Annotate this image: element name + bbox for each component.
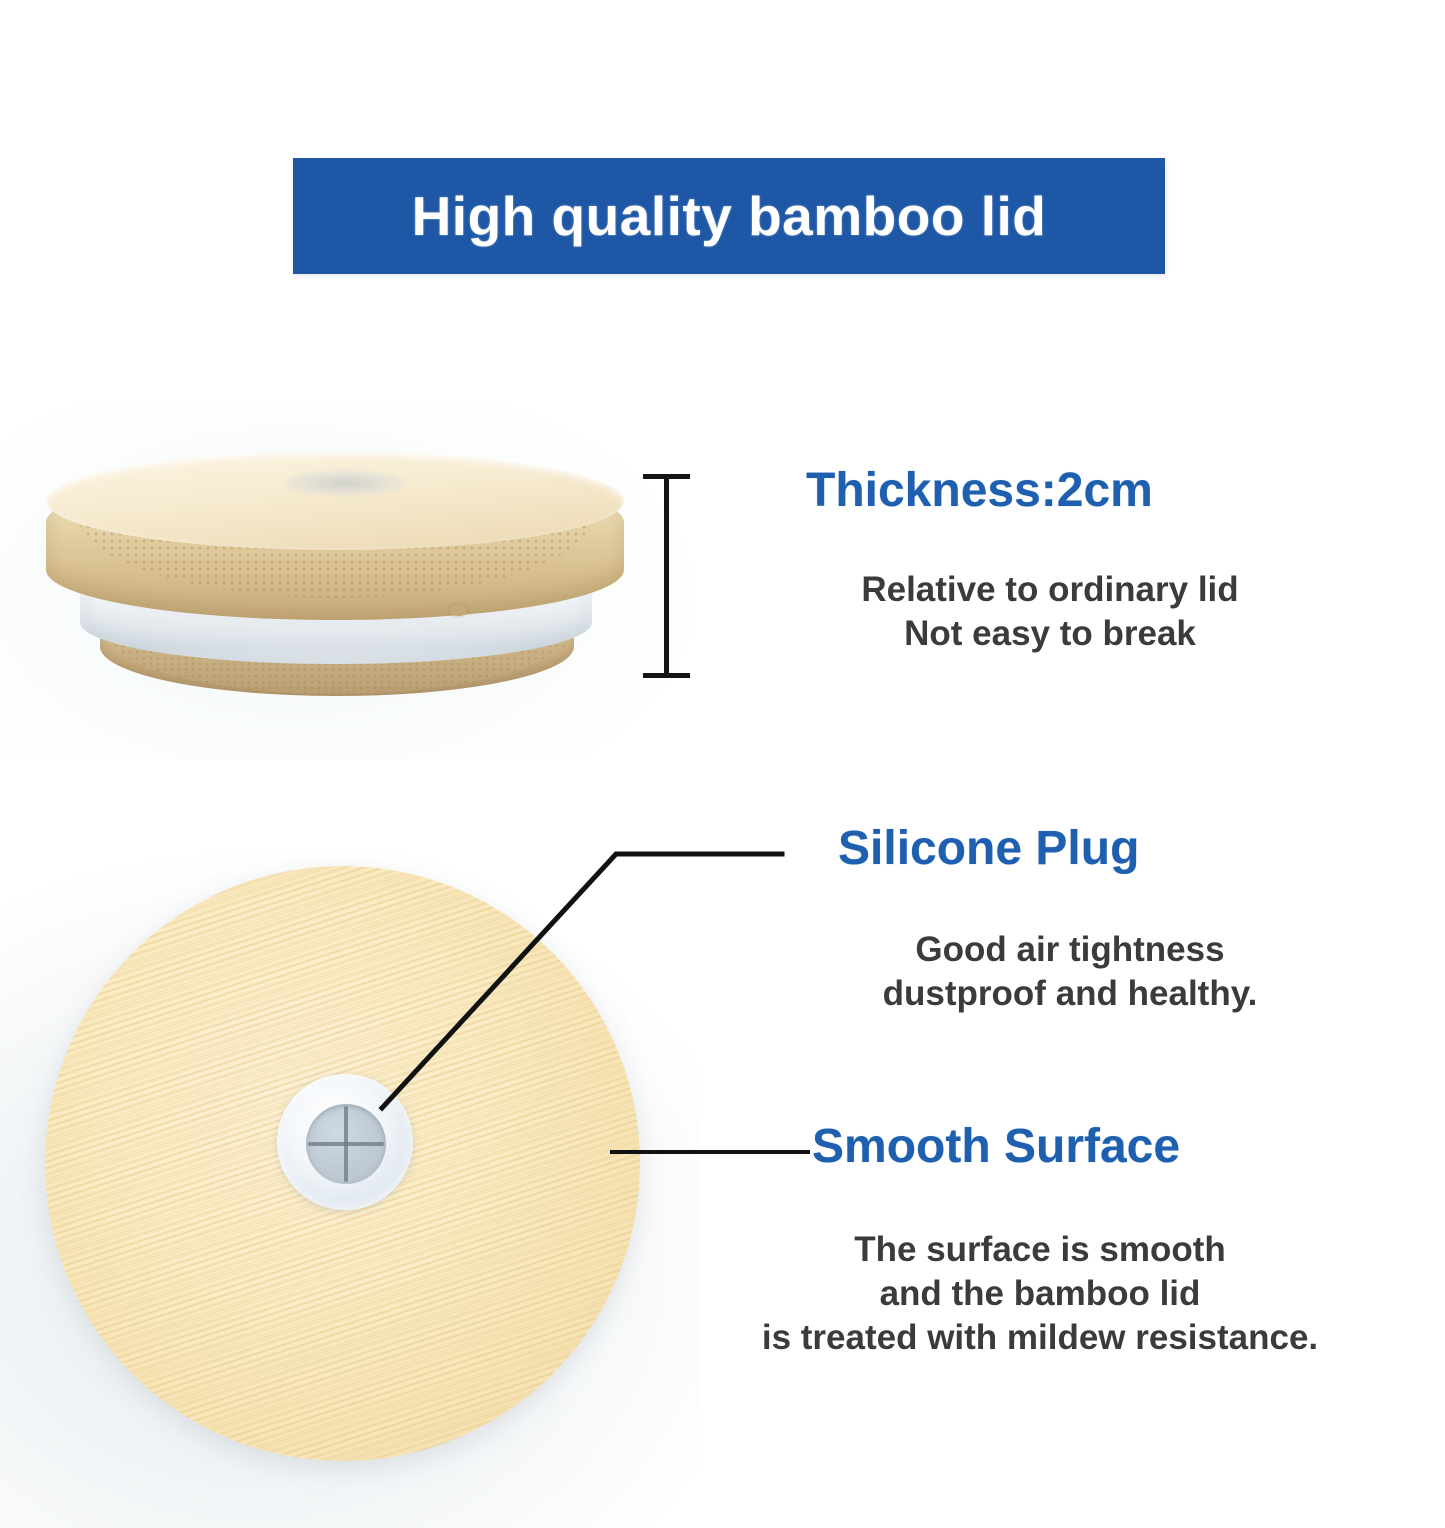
dimension-cap-bottom <box>643 673 690 678</box>
feature-heading-silicone-plug: Silicone Plug <box>838 824 1139 874</box>
feature-body-silicone-plug: Good air tightness dustproof and healthy… <box>760 928 1380 1016</box>
feature-body-smooth-surface: The surface is smooth and the bamboo lid… <box>640 1228 1440 1360</box>
feature-heading-smooth-surface: Smooth Surface <box>812 1122 1180 1172</box>
thickness-dimension-bar <box>640 474 692 678</box>
callout-line-smooth-surface <box>610 1145 818 1159</box>
silicone-plug-slit-vertical <box>344 1106 348 1182</box>
lid-top-plug-group <box>45 866 640 1461</box>
silicone-plug-side-glint <box>284 470 404 496</box>
callout-line-smooth-surface-segment <box>610 1150 810 1154</box>
title-banner: High quality bamboo lid <box>293 158 1165 274</box>
infographic-page: High quality bamboo lid Thickness:2cm Re… <box>0 0 1445 1528</box>
page-title: High quality bamboo lid <box>412 189 1047 244</box>
product-photo-lid-side-view <box>42 452 632 712</box>
feature-body-thickness: Relative to ordinary lid Not easy to bre… <box>730 568 1370 656</box>
dimension-stem <box>664 477 669 675</box>
bamboo-disc-top-face <box>46 452 624 550</box>
feature-heading-thickness: Thickness:2cm <box>806 466 1153 516</box>
seal-vent-dot <box>450 604 467 616</box>
